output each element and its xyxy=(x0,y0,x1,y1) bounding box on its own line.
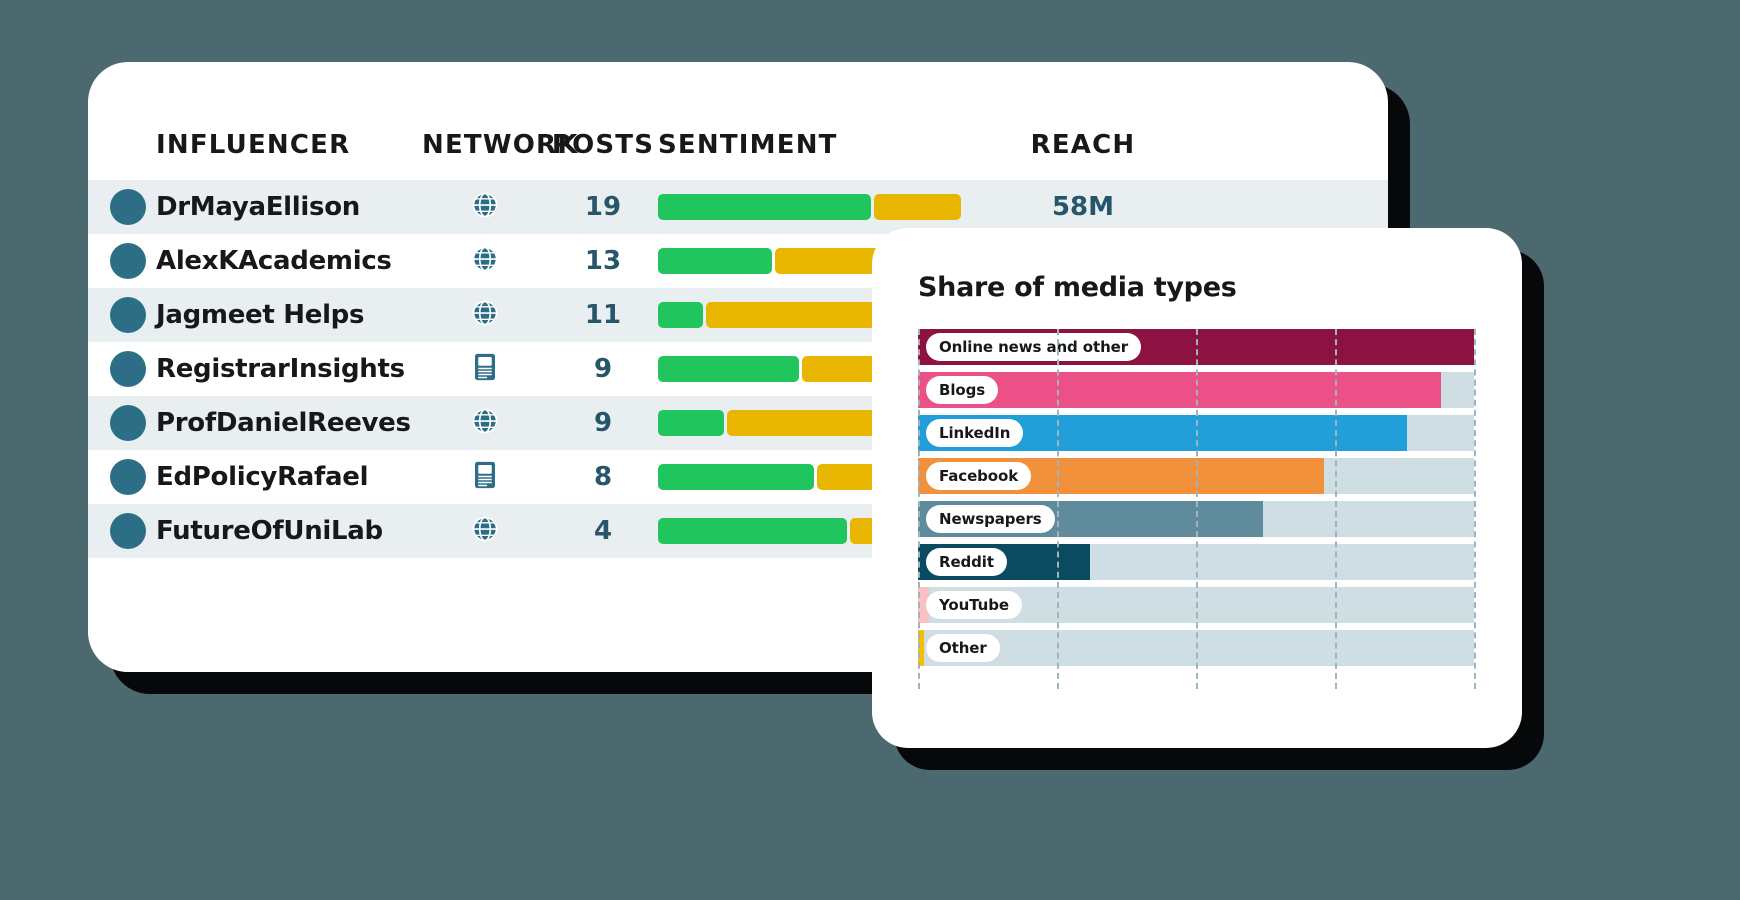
avatar-cell xyxy=(88,459,156,495)
network-cell xyxy=(422,406,548,440)
table-header-row: INFLUENCER NETWORK POSTS SENTIMENT REACH xyxy=(88,62,1388,180)
globe-icon xyxy=(470,190,500,220)
avatar xyxy=(110,405,146,441)
chart-bar-label: Reddit xyxy=(926,548,1007,576)
posts-count: 13 xyxy=(548,246,658,276)
influencer-name[interactable]: DrMayaEllison xyxy=(156,192,422,222)
column-header-influencer: INFLUENCER xyxy=(156,130,422,180)
chart-bar-row[interactable]: YouTube xyxy=(918,587,1474,623)
avatar xyxy=(110,297,146,333)
avatar-cell xyxy=(88,351,156,387)
chart-bar-row[interactable]: Reddit xyxy=(918,544,1474,580)
sentiment-positive-segment xyxy=(658,410,724,436)
chart-bar-label: Online news and other xyxy=(926,333,1141,361)
chart-bar-label: LinkedIn xyxy=(926,419,1023,447)
chart-bar-row[interactable]: Blogs xyxy=(918,372,1474,408)
chart-bar-label: Facebook xyxy=(926,462,1031,490)
avatar xyxy=(110,513,146,549)
globe-icon xyxy=(470,244,500,274)
chart-bar-label: Blogs xyxy=(926,376,998,404)
reach-value: 58M xyxy=(958,192,1208,222)
sentiment-positive-segment xyxy=(658,356,799,382)
network-cell xyxy=(422,514,548,548)
chart-bar-row[interactable]: LinkedIn xyxy=(918,415,1474,451)
network-cell xyxy=(422,460,548,494)
globe-icon xyxy=(470,514,500,544)
globe-icon xyxy=(470,298,500,328)
avatar xyxy=(110,459,146,495)
avatar-cell xyxy=(88,405,156,441)
network-cell xyxy=(422,244,548,278)
column-header-sentiment: SENTIMENT xyxy=(658,130,958,180)
newspaper-icon xyxy=(471,460,499,490)
column-header-network: NETWORK xyxy=(422,130,548,180)
influencer-name[interactable]: FutureOfUniLab xyxy=(156,516,422,546)
chart-bar-row[interactable]: Online news and other xyxy=(918,329,1474,365)
chart-bar-fill xyxy=(918,630,924,666)
posts-count: 9 xyxy=(548,408,658,438)
globe-icon xyxy=(470,406,500,436)
sentiment-neutral-segment xyxy=(874,194,961,220)
network-cell xyxy=(422,352,548,386)
chart-gridline xyxy=(1474,329,1476,689)
sentiment-positive-segment xyxy=(658,248,772,274)
chart-bar-row[interactable]: Newspapers xyxy=(918,501,1474,537)
posts-count: 19 xyxy=(548,192,658,222)
chart-bar-row[interactable]: Other xyxy=(918,630,1474,666)
avatar-cell xyxy=(88,297,156,333)
influencer-name[interactable]: EdPolicyRafael xyxy=(156,462,422,492)
avatar xyxy=(110,351,146,387)
column-header-reach: REACH xyxy=(958,130,1208,180)
chart-bar-row[interactable]: Facebook xyxy=(918,458,1474,494)
media-types-chart-card: Share of media types Online news and oth… xyxy=(872,228,1522,748)
sentiment-positive-segment xyxy=(658,194,871,220)
avatar-cell xyxy=(88,513,156,549)
chart-title: Share of media types xyxy=(918,272,1474,303)
column-header-posts: POSTS xyxy=(548,130,658,180)
chart-bar-label: YouTube xyxy=(926,591,1022,619)
posts-count: 4 xyxy=(548,516,658,546)
chart-bars: Online news and otherBlogsLinkedInFacebo… xyxy=(918,329,1474,689)
influencer-name[interactable]: ProfDanielReeves xyxy=(156,408,422,438)
network-cell xyxy=(422,190,548,224)
influencer-name[interactable]: RegistrarInsights xyxy=(156,354,422,384)
network-cell xyxy=(422,298,548,332)
posts-count: 9 xyxy=(548,354,658,384)
avatar-cell xyxy=(88,243,156,279)
sentiment-positive-segment xyxy=(658,302,703,328)
sentiment-positive-segment xyxy=(658,518,847,544)
table-row[interactable]: DrMayaEllison1958M xyxy=(88,180,1388,234)
chart-bar-label: Other xyxy=(926,634,1000,662)
avatar xyxy=(110,189,146,225)
posts-count: 11 xyxy=(548,300,658,330)
newspaper-icon xyxy=(471,352,499,382)
influencer-name[interactable]: Jagmeet Helps xyxy=(156,300,422,330)
sentiment-cell xyxy=(658,194,958,220)
sentiment-positive-segment xyxy=(658,464,814,490)
avatar-cell xyxy=(88,189,156,225)
chart-bar-label: Newspapers xyxy=(926,505,1055,533)
avatar xyxy=(110,243,146,279)
sentiment-bar xyxy=(658,194,958,220)
chart-plot-area: Online news and otherBlogsLinkedInFacebo… xyxy=(918,329,1474,689)
influencer-name[interactable]: AlexKAcademics xyxy=(156,246,422,276)
posts-count: 8 xyxy=(548,462,658,492)
